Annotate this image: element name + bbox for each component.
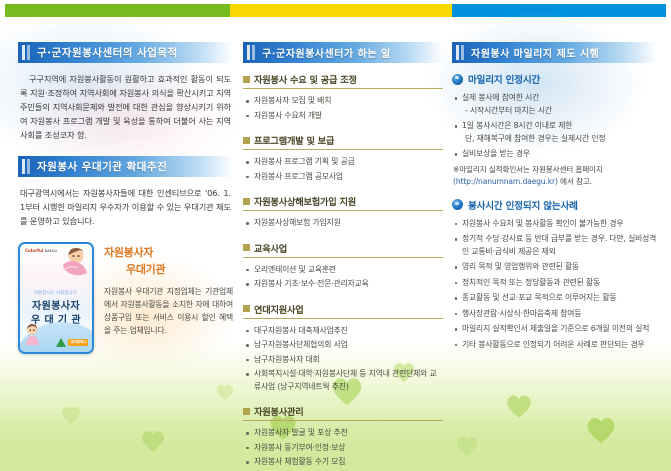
tree-icon xyxy=(56,338,66,347)
list-item: 실비보상을 받는 경우 xyxy=(452,148,657,161)
section-heading-center-activities: 구·군자원봉사센터가 하는 일 xyxy=(262,45,391,60)
section-banner-center-activities: 구·군자원봉사센터가 하는 일 xyxy=(243,42,443,63)
list-item: 자원봉사 수요처 및 봉사활동 확인이 불가능한 경우 xyxy=(452,218,657,231)
list-item: 자원봉사 프로그램 기획 및 공급 xyxy=(243,156,443,169)
booklet-footer: 대구광역시 xyxy=(56,338,88,347)
activity-group-header: 교육사업 xyxy=(243,241,443,258)
left-column: 구·군자원봉사센터의 사업목적 구구지역에 자원봉사활동이 원활하고 효과적인 … xyxy=(18,42,233,354)
list-item: 자원봉사 수요처 개발 xyxy=(243,110,443,123)
list-item: 자원봉사 프로그램 공모사업 xyxy=(243,171,443,184)
mileage-note: ※마일리지 실적확인서는 자원봉사센터 홈페이지 (http://nanumna… xyxy=(453,164,657,188)
card-title-line1: 자원봉사자 xyxy=(104,246,153,259)
band-segment-blue xyxy=(452,4,666,17)
mileage-group-header: 마일리지 인정시간 xyxy=(452,72,657,86)
activity-item-list: 자원봉사상해보험 가입지원 xyxy=(243,217,443,230)
activity-group: 프로그램개발 및 보급 자원봉사 프로그램 기획 및 공급 자원봉사 프로그램 … xyxy=(243,133,443,183)
mileage-group-title: 마일리지 인정시간 xyxy=(468,72,540,86)
circle-bullet-icon xyxy=(452,74,463,85)
section-heading-business-purpose: 구·군자원봉사센터의 사업목적 xyxy=(37,45,178,60)
booklet-cover-image: Colorful DAEGU 자원봉사는 사랑입니다. 자원봉사자 xyxy=(18,242,94,354)
list-item: 자원봉사 기초·보수·전문·관리자교육 xyxy=(243,278,443,291)
banner-ticks-icon xyxy=(456,45,464,60)
activity-group: 연대지원사업 대구자원봉사 대축제사업추진 남구자원봉사단체협의회 사업 남구자… xyxy=(243,302,443,394)
booklet-title-line1: 자원봉사자 xyxy=(32,301,80,312)
square-bullet-icon xyxy=(243,198,250,205)
section-banner-business-purpose: 구·군자원봉사센터의 사업목적 xyxy=(18,42,233,63)
list-item: 1일 봉사시간은 8시간 이내로 제한 단, 재해복구에 참여한 경우는 실제시… xyxy=(452,120,657,145)
mileage-group-title: 봉사시간 인정되지 않는사례 xyxy=(468,198,578,212)
list-item: 자원봉사 동기부여·인정·보상 xyxy=(243,442,443,455)
list-item: 자원봉사상해보험 가입지원 xyxy=(243,217,443,230)
card-body-text: 자원봉사 우대기관 지정업체는 기관업체에서 자원봉사활동을 소지한 자에 대하… xyxy=(104,285,233,337)
top-color-band xyxy=(5,4,666,17)
list-item-sub: 단, 재해복구에 참여한 경우는 실제시간 인정 xyxy=(462,133,657,146)
list-item: 대구자원봉사 대축제사업추진 xyxy=(243,325,443,338)
booklet-footer-chip: 대구광역시 xyxy=(68,339,88,346)
band-segment-yellow xyxy=(230,4,452,17)
list-item: 정치적인 목적 또는 정당활동과 관련된 활동 xyxy=(452,277,657,290)
section-banner-preferred-org: 자원봉사 우대기관 확대추진 xyxy=(18,156,233,177)
square-bullet-icon xyxy=(243,137,250,144)
list-item-main: 실비보상을 받는 경우 xyxy=(462,149,530,158)
list-item: 영리 목적 및 영업행위와 관련된 활동 xyxy=(452,261,657,274)
square-bullet-icon xyxy=(243,76,250,83)
list-item: 종교활동 및 선교·포교 목적으로 이루어지는 활동 xyxy=(452,292,657,305)
mileage-group-recognized-hours: 마일리지 인정시간 실제 봉사에 참여한 시간 - 시작시간부터 마치는 시간 … xyxy=(452,72,657,188)
activity-item-list: 자원봉사자 발굴 및 포상 추천 자원봉사 동기부여·인정·보상 자원봉사 체험… xyxy=(243,427,443,469)
mileage-note-url[interactable]: (http://nanumnam.daegu.kr) xyxy=(453,177,558,186)
activity-item-list: 오리엔테이션 및 교육훈련 자원봉사 기초·보수·전문·관리자교육 xyxy=(243,264,443,291)
list-item: 자원봉사자 발굴 및 포상 추천 xyxy=(243,427,443,440)
activity-group-header: 연대지원사업 xyxy=(243,302,443,319)
list-item-sub: - 시작시간부터 마치는 시간 xyxy=(462,105,657,118)
card-title: 자원봉사자 우대기관 xyxy=(104,244,233,278)
mileage-note-suffix: 에서 참고. xyxy=(560,177,592,186)
activity-group-header: 자원봉사 수요 및 공급 조정 xyxy=(243,72,443,89)
activity-group-title: 프로그램개발 및 보급 xyxy=(254,133,334,147)
activity-group-title: 자원봉사 수요 및 공급 조정 xyxy=(254,72,357,86)
child-illustration-icon xyxy=(24,324,44,346)
banner-ticks-icon xyxy=(22,45,30,60)
list-item: 실제 봉사에 참여한 시간 - 시작시간부터 마치는 시간 xyxy=(452,92,657,117)
activity-item-list: 대구자원봉사 대축제사업추진 남구자원봉사단체협의회 사업 남구자원봉사자 대회… xyxy=(243,325,443,394)
list-item: 자원봉사 체험활동 수기 모집 xyxy=(243,456,443,469)
square-bullet-icon xyxy=(243,305,250,312)
booklet-logo: Colorful DAEGU xyxy=(25,249,57,254)
booklet-subtitle: 자원봉사는 사랑입니다. xyxy=(20,290,92,296)
activity-group-title: 자원봉사관리 xyxy=(254,404,304,418)
activity-item-list: 자원봉사 프로그램 기획 및 공급 자원봉사 프로그램 공모사업 xyxy=(243,156,443,183)
list-item-main: 1일 봉사시간은 8시간 이내로 제한 xyxy=(462,121,572,130)
activity-group: 교육사업 오리엔테이션 및 교육훈련 자원봉사 기초·보수·전문·관리자교육 xyxy=(243,241,443,291)
card-title-line2: 우대기관 xyxy=(104,261,233,278)
section-heading-preferred-org: 자원봉사 우대기관 확대추진 xyxy=(37,159,167,174)
preferred-org-card: Colorful DAEGU 자원봉사는 사랑입니다. 자원봉사자 xyxy=(18,242,233,354)
activity-group: 자원봉사 수요 및 공급 조정 자원봉사자 모집 및 배치 자원봉사 수요처 개… xyxy=(243,72,443,122)
activity-group-header: 자원봉사관리 xyxy=(243,404,443,421)
three-column-layout: 구·군자원봉사센터의 사업목적 구구지역에 자원봉사활동이 원활하고 효과적인 … xyxy=(0,42,671,442)
banner-ticks-icon xyxy=(22,159,30,174)
square-bullet-icon xyxy=(243,408,250,415)
list-item: 오리엔테이션 및 교육훈련 xyxy=(243,264,443,277)
list-item: 남구자원봉사자 대회 xyxy=(243,354,443,367)
mileage-item-list: 실제 봉사에 참여한 시간 - 시작시간부터 마치는 시간 1일 봉사시간은 8… xyxy=(452,92,657,161)
preferred-org-card-text: 자원봉사자 우대기관 자원봉사 우대기관 지정업체는 기관업체에서 자원봉사활동… xyxy=(104,242,233,354)
right-column: 자원봉사 마일리지 제도 시행 마일리지 인정시간 실제 봉사에 참여한 시간 … xyxy=(452,42,657,361)
list-item: 행사장관람·시상식·한마음축제 참여등 xyxy=(452,308,657,321)
list-item-main: 실제 봉사에 참여한 시간 xyxy=(462,93,539,102)
booklet-logo-main: Colorful xyxy=(25,249,43,254)
list-item: 자원봉사자 모집 및 배치 xyxy=(243,95,443,108)
banner-ticks-icon xyxy=(247,45,255,60)
list-item: 남구자원봉사단체협의회 사업 xyxy=(243,339,443,352)
list-item: 정기적 수당·강사료 등 반대 급부를 받는 경우. 다만, 실비성격인 교통비… xyxy=(452,233,657,258)
section-banner-mileage-system: 자원봉사 마일리지 제도 시행 xyxy=(452,42,657,63)
activity-item-list: 자원봉사자 모집 및 배치 자원봉사 수요처 개발 xyxy=(243,95,443,122)
activity-group-title: 연대지원사업 xyxy=(254,302,304,316)
booklet-logo-sub: DAEGU xyxy=(45,249,57,253)
mileage-group-not-recognized: 봉사시간 인정되지 않는사례 자원봉사 수요처 및 봉사활동 확인이 불가능한 … xyxy=(452,198,657,352)
list-item: 기타 봉사활동으로 인정되기 어려운 사례로 판단되는 경우 xyxy=(452,339,657,352)
activity-group-title: 교육사업 xyxy=(254,241,287,255)
mileage-note-prefix: ※마일리지 실적확인서는 자원봉사센터 홈페이지 xyxy=(453,165,603,174)
fairy-illustration-icon xyxy=(59,247,89,281)
circle-bullet-icon xyxy=(452,199,463,210)
activity-group-title: 자원봉사상해보험가입 지원 xyxy=(254,194,356,208)
list-item: 마일리지 실적확인서 제출일을 기준으로 6개월 이전의 실적 xyxy=(452,323,657,336)
activity-group-header: 자원봉사상해보험가입 지원 xyxy=(243,194,443,211)
band-segment-green xyxy=(5,4,230,17)
section-heading-mileage-system: 자원봉사 마일리지 제도 시행 xyxy=(471,45,599,60)
activity-group-header: 프로그램개발 및 보급 xyxy=(243,133,443,150)
activity-group: 자원봉사상해보험가입 지원 자원봉사상해보험 가입지원 xyxy=(243,194,443,230)
square-bullet-icon xyxy=(243,244,250,251)
activity-group: 자원봉사관리 자원봉사자 발굴 및 포상 추천 자원봉사 동기부여·인정·보상 … xyxy=(243,404,443,469)
paragraph-preferred-org: 대구광역시에서는 자원봉사자들에 대한 인센티브으로 '06. 1. 1부터 시… xyxy=(20,186,231,228)
brochure-page: 구·군자원봉사센터의 사업목적 구구지역에 자원봉사활동이 원활하고 효과적인 … xyxy=(0,0,671,471)
list-item: 사회복지시설·대학·자원봉사단체 등 지역내 관련단체와 교류사업 (남구지역네… xyxy=(243,368,443,393)
mileage-group-header: 봉사시간 인정되지 않는사례 xyxy=(452,198,657,212)
mileage-exclusion-list: 자원봉사 수요처 및 봉사활동 확인이 불가능한 경우 정기적 수당·강사료 등… xyxy=(452,218,657,352)
paragraph-business-purpose: 구구지역에 자원봉사활동이 원활하고 효과적인 활동이 되도록 지원·조정하여 … xyxy=(20,72,231,142)
middle-column: 구·군자원봉사센터가 하는 일 자원봉사 수요 및 공급 조정 자원봉사자 모집… xyxy=(243,42,443,471)
